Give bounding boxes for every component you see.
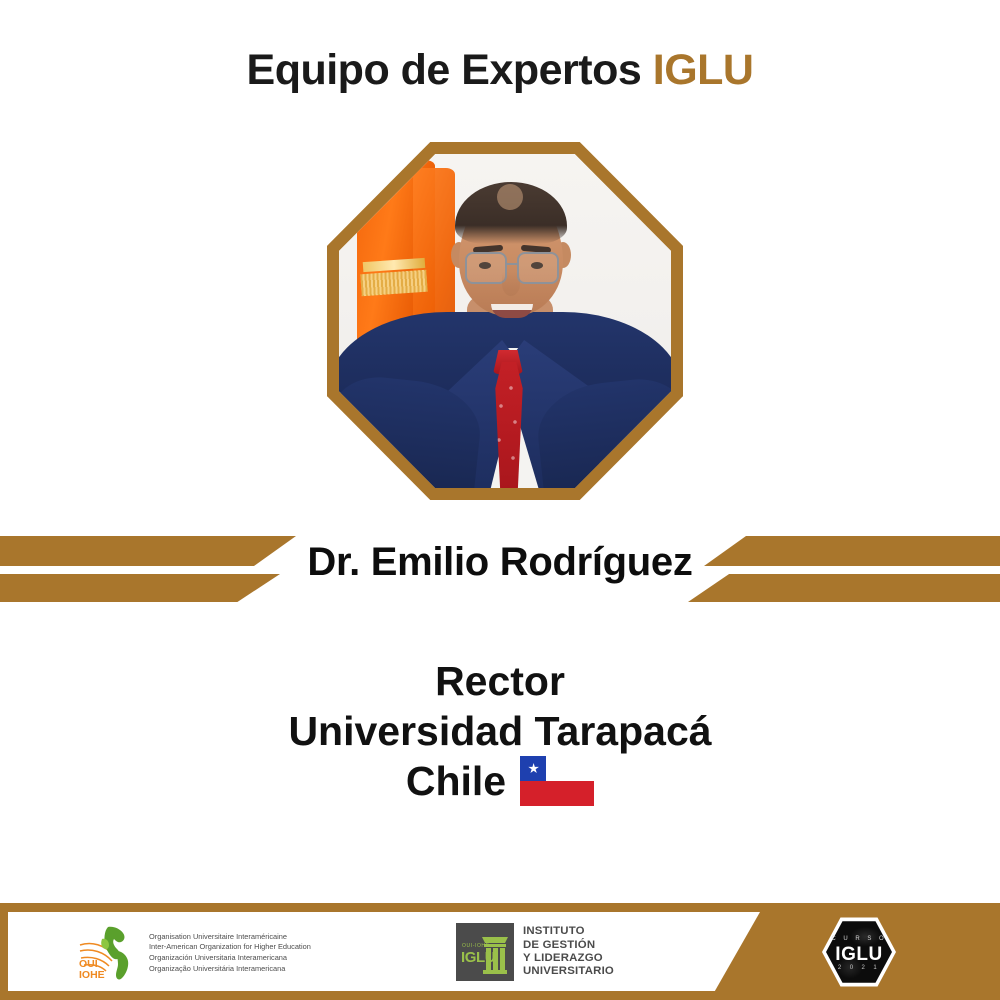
instituto-line-2: DE GESTIÓN — [523, 939, 614, 952]
nose — [502, 272, 520, 296]
hair-part — [497, 184, 523, 210]
footer-band: OUI IOHE Organisation Universitaire Inte… — [0, 903, 1000, 1000]
oui-names: Organisation Universitaire Interaméricai… — [149, 932, 311, 974]
americas-map-icon: OUI IOHE — [78, 925, 140, 981]
oui-acronym-line2: IOHE — [79, 970, 105, 981]
eyeglass-lens-left — [465, 252, 507, 284]
oui-iohe-logo: OUI IOHE Organisation Universitaire Inte… — [78, 925, 311, 981]
hex-label-curso: C U R S O — [822, 936, 896, 942]
hex-label-iglu: IGLU — [822, 944, 896, 966]
oui-name-en: Inter-American Organization for Higher E… — [149, 942, 311, 953]
page-title-main: Equipo de Expertos — [247, 46, 642, 94]
hex-label-year: 2 0 2 1 — [822, 965, 896, 971]
teeth — [491, 304, 533, 310]
portrait-frame — [327, 142, 683, 500]
oui-name-fr: Organisation Universitaire Interaméricai… — [149, 932, 311, 943]
instituto-line-4: UNIVERSITARIO — [523, 965, 614, 978]
eyeglass-lens-right — [517, 252, 559, 284]
instituto-line-3: Y LIDERAZGO — [523, 952, 614, 965]
flag-red-band — [520, 781, 594, 806]
expert-details: Rector Universidad Tarapacá Chile — [0, 656, 1000, 806]
country-row-inner: Chile — [406, 756, 594, 806]
instituto-line-1: INSTITUTO — [523, 925, 614, 938]
expert-role: Rector — [0, 656, 1000, 706]
page-title-accent: IGLU — [653, 46, 754, 94]
poster-canvas: Equipo de Expertos IGLU — [0, 0, 1000, 1000]
page-title: Equipo de Expertos IGLU — [0, 46, 1000, 95]
expert-institution: Universidad Tarapacá — [0, 706, 1000, 756]
instituto-text: INSTITUTO DE GESTIÓN Y LIDERAZGO UNIVERS… — [523, 925, 614, 979]
expert-country-row: Chile — [0, 756, 1000, 806]
oui-name-es: Organización Universitaria Interamerican… — [149, 953, 311, 964]
expert-country: Chile — [406, 756, 506, 806]
chile-flag-icon — [520, 756, 594, 806]
portrait-photo — [339, 154, 671, 488]
oui-name-pt: Organização Universitária Interamericana — [149, 964, 311, 975]
iglu-badge-main-text: IGLU — [461, 949, 495, 966]
instituto-iglu-logo: OUI-IOHE IGLU INSTITUTO DE GESTIÓN Y LID… — [456, 923, 614, 981]
curso-iglu-hex-badge: C U R S O IGLU 2 0 2 1 — [822, 916, 896, 988]
expert-name: Dr. Emilio Rodríguez — [0, 540, 1000, 585]
iglu-badge-icon: OUI-IOHE IGLU — [456, 923, 514, 981]
name-banner: Dr. Emilio Rodríguez — [0, 530, 1000, 608]
flag-fringe — [360, 270, 427, 297]
